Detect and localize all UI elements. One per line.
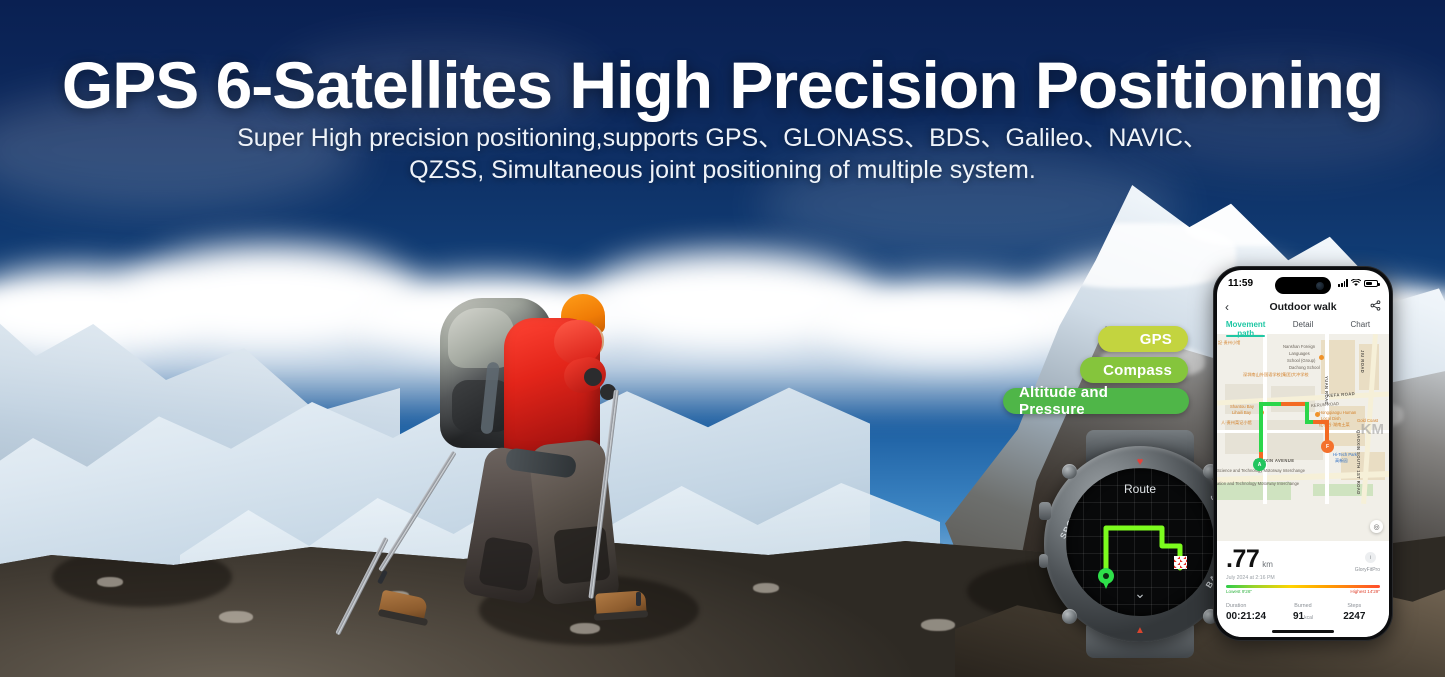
stat-steps-value: 2247 bbox=[1343, 611, 1365, 622]
phone-nav-bar: ‹ Outdoor walk bbox=[1217, 296, 1389, 318]
checkered-flag-icon bbox=[1174, 556, 1187, 569]
home-indicator[interactable] bbox=[1272, 630, 1334, 633]
route-segment bbox=[1305, 402, 1309, 422]
gps-feature-banner: GPS 6-Satellites High Precision Position… bbox=[0, 0, 1445, 677]
activity-datetime: July 2024 at 2:16 PM bbox=[1226, 575, 1380, 581]
wifi-icon bbox=[1351, 279, 1361, 287]
app-brand-label: GloryFitPro bbox=[1355, 567, 1380, 573]
stat-burned-value: 91 bbox=[1293, 611, 1304, 622]
distance-value: .77 bbox=[1226, 545, 1259, 574]
stat-burned: Burned 91kcal bbox=[1277, 603, 1328, 622]
tab-movement-path[interactable]: Movement path bbox=[1217, 318, 1274, 335]
map-watermark: KM bbox=[1361, 421, 1384, 438]
map-marker-start[interactable]: A bbox=[1253, 458, 1266, 471]
signal-bars-icon bbox=[1338, 279, 1348, 287]
feature-pill-gps-label: GPS bbox=[1140, 331, 1172, 348]
subtitle-line-2: QZSS, Simultaneous joint positioning of … bbox=[0, 154, 1445, 186]
elevation-gradient-bar bbox=[1226, 585, 1380, 588]
smartphone: 11:59 ‹ Outdoor walk bbox=[1213, 266, 1393, 641]
stat-burned-key: Burned bbox=[1277, 603, 1328, 609]
watch-screen[interactable]: Route ⌄ bbox=[1066, 468, 1214, 616]
phone-screen[interactable]: 11:59 ‹ Outdoor walk bbox=[1217, 270, 1389, 637]
feature-pill-gps[interactable]: GPS bbox=[1098, 326, 1188, 352]
heart-icon: ♥ bbox=[1137, 456, 1144, 468]
phone-page-title: Outdoor walk bbox=[1269, 301, 1336, 313]
phone-tab-bar[interactable]: Movement path Detail Chart bbox=[1217, 318, 1389, 335]
dynamic-island bbox=[1275, 277, 1331, 294]
tab-detail[interactable]: Detail bbox=[1274, 318, 1331, 335]
stat-duration-value: 00:21:24 bbox=[1226, 611, 1266, 622]
hiker-figure bbox=[378, 292, 678, 644]
subtitle-line-1: Super High precision positioning,support… bbox=[0, 122, 1445, 154]
share-icon[interactable] bbox=[1370, 300, 1381, 311]
watch-button-left-lower[interactable] bbox=[1039, 554, 1048, 568]
stat-steps-key: Steps bbox=[1329, 603, 1380, 609]
info-icon[interactable]: i bbox=[1365, 552, 1376, 563]
feature-pill-altitude-label: Altitude and Pressure bbox=[1019, 384, 1173, 418]
activity-summary: i GloryFitPro .77 km July 2024 at 2:16 P… bbox=[1217, 541, 1389, 637]
stat-duration: Duration 00:21:24 bbox=[1226, 603, 1277, 622]
battery-icon bbox=[1364, 280, 1378, 287]
triangle-icon: ▲ bbox=[1135, 625, 1145, 636]
chevron-down-icon[interactable]: ⌄ bbox=[1134, 585, 1146, 602]
distance-unit: km bbox=[1262, 560, 1273, 569]
location-pin-icon bbox=[1098, 568, 1114, 588]
chevron-left-icon[interactable]: ‹ bbox=[1225, 301, 1229, 313]
feature-pill-altitude[interactable]: Altitude and Pressure bbox=[1003, 388, 1189, 414]
feature-pill-compass[interactable]: Compass bbox=[1080, 357, 1188, 383]
route-segment bbox=[1259, 402, 1263, 456]
page-subtitle: Super High precision positioning,support… bbox=[0, 122, 1445, 186]
stat-steps: Steps 2247 bbox=[1329, 603, 1380, 622]
tab-chart[interactable]: Chart bbox=[1332, 318, 1389, 335]
stat-burned-unit: kcal bbox=[1304, 615, 1313, 621]
stat-duration-key: Duration bbox=[1226, 603, 1277, 609]
locate-icon[interactable]: ◎ bbox=[1370, 520, 1383, 533]
map-marker-finish[interactable]: F bbox=[1321, 440, 1334, 453]
feature-pill-compass-label: Compass bbox=[1103, 362, 1172, 379]
page-title: GPS 6-Satellites High Precision Position… bbox=[0, 52, 1445, 118]
status-time: 11:59 bbox=[1228, 278, 1253, 289]
elevation-high-label: Highest 14'29" bbox=[1350, 589, 1380, 594]
elevation-low-label: Lowest 9'26" bbox=[1226, 589, 1252, 594]
activity-stats-row: Duration 00:21:24 Burned 91kcal Steps 22… bbox=[1226, 603, 1380, 622]
watch-button-sport[interactable] bbox=[1039, 502, 1051, 520]
smartwatch: SPORT SEL BACK ♥ ▲ Route ⌄ bbox=[1044, 446, 1236, 642]
route-map[interactable]: 記·贵州小馆 Nanshan Foreign Languages School … bbox=[1217, 334, 1389, 541]
